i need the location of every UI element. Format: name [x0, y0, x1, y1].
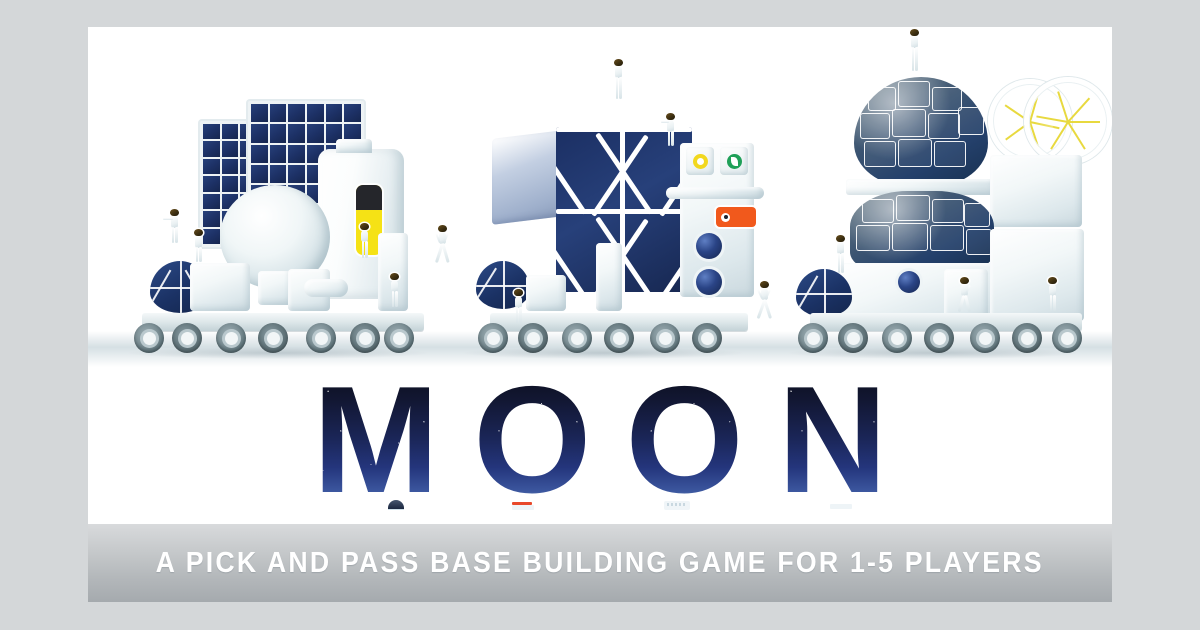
wheel — [350, 323, 380, 353]
leaf-icon-panel — [720, 147, 748, 175]
wheel — [838, 323, 868, 353]
wheel — [134, 323, 164, 353]
tank-cap — [336, 139, 372, 153]
wheel — [562, 323, 592, 353]
wheel — [970, 323, 1000, 353]
mini-astronaut — [300, 499, 303, 507]
poster-root: M O O N A PICK AND PASS BASE — [0, 0, 1200, 630]
lunar-base-artwork — [88, 27, 1112, 367]
title-letter-n: N — [778, 364, 888, 516]
tagline-bar: A PICK AND PASS BASE BUILDING GAME FOR 1… — [88, 524, 1112, 602]
game-title-wordmark: M O O N — [88, 365, 1112, 515]
wheel — [172, 323, 202, 353]
docking-port — [696, 269, 722, 295]
wheel-row — [470, 321, 746, 353]
wheel — [882, 323, 912, 353]
wheel — [384, 323, 414, 353]
thruster-nozzle — [304, 279, 348, 297]
dish-mount — [258, 271, 292, 305]
solar-habitat-module — [128, 83, 438, 353]
wheel — [478, 323, 508, 353]
leaf-icon — [727, 154, 742, 169]
wheel — [518, 323, 548, 353]
mini-base-scene — [300, 499, 303, 507]
wheel — [1052, 323, 1082, 353]
module-body-panel — [990, 229, 1084, 321]
docking-port — [898, 271, 920, 293]
wheel — [924, 323, 954, 353]
centrifuge-ring — [1024, 77, 1112, 165]
triangular-lattice-frame — [556, 127, 692, 297]
title-letter-m: M — [313, 364, 440, 516]
title-letter-o-2: O — [625, 364, 743, 516]
wheel — [306, 323, 336, 353]
docking-arm — [666, 187, 764, 199]
wheel — [650, 323, 680, 353]
lower-geodesic-dome — [850, 191, 994, 269]
wheel — [604, 323, 634, 353]
wheel — [1012, 323, 1042, 353]
module-body-panel — [190, 263, 250, 311]
cargo-block — [990, 155, 1082, 227]
wheel-row — [794, 321, 1086, 353]
module-body-panel — [526, 275, 566, 311]
wheel — [258, 323, 288, 353]
wheel — [798, 323, 828, 353]
docking-port — [696, 233, 722, 259]
wheel — [216, 323, 246, 353]
orange-badge — [716, 207, 756, 227]
geodesic-dome-module — [794, 63, 1094, 353]
poster-card: M O O N A PICK AND PASS BASE — [88, 27, 1112, 602]
lattice-greenhouse-module — [470, 103, 760, 353]
sun-icon — [693, 154, 708, 169]
upper-geodesic-dome — [854, 77, 988, 187]
wheel-row — [128, 321, 418, 353]
title-letter-o-1: O — [473, 364, 591, 516]
wheel — [692, 323, 722, 353]
sun-icon-panel — [686, 147, 714, 175]
tagline-text: A PICK AND PASS BASE BUILDING GAME FOR 1… — [156, 547, 1044, 580]
module-body-panel — [596, 243, 622, 311]
